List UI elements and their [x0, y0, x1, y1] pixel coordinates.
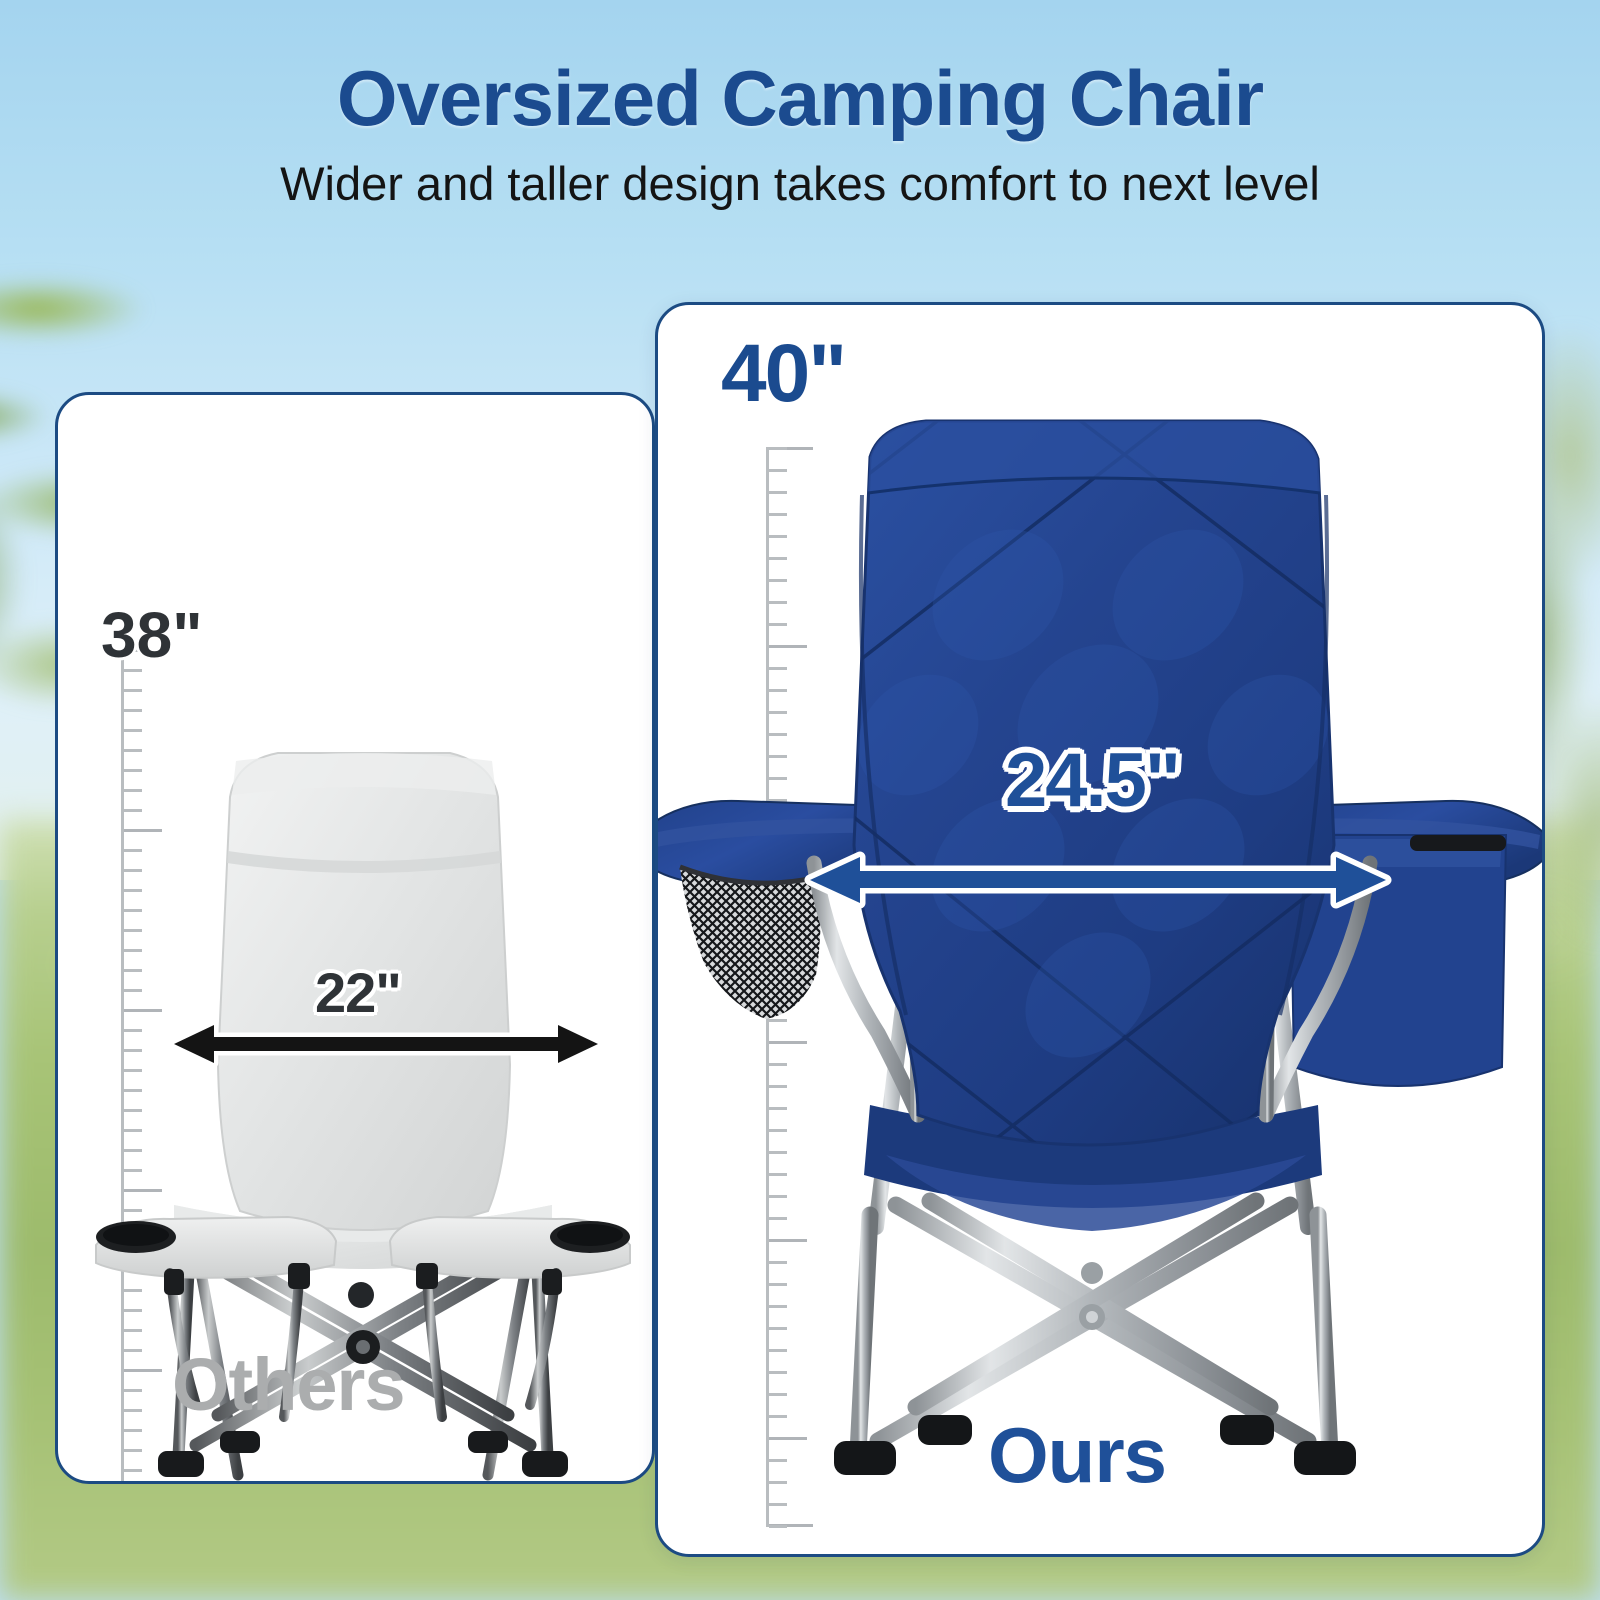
double-arrow-icon-others: [166, 1013, 606, 1075]
chair-name-label-ours: Ours: [988, 1410, 1166, 1501]
height-label-ours: 40": [721, 333, 845, 415]
page-subtitle: Wider and taller design takes comfort to…: [0, 158, 1600, 210]
page-title: Oversized Camping Chair: [0, 58, 1600, 140]
comparison-card-ours: 40" 24.5": [655, 302, 1545, 1557]
comparison-card-others: 38" 22": [55, 392, 655, 1484]
width-label-ours: 24.5": [1005, 743, 1179, 819]
header: Oversized Camping Chair Wider and taller…: [0, 0, 1600, 210]
chair-illustration-ours: [655, 415, 1545, 1545]
chair-name-label-others: Others: [172, 1342, 405, 1427]
height-label-others: 38": [101, 603, 203, 667]
double-arrow-icon-ours: [798, 843, 1398, 917]
